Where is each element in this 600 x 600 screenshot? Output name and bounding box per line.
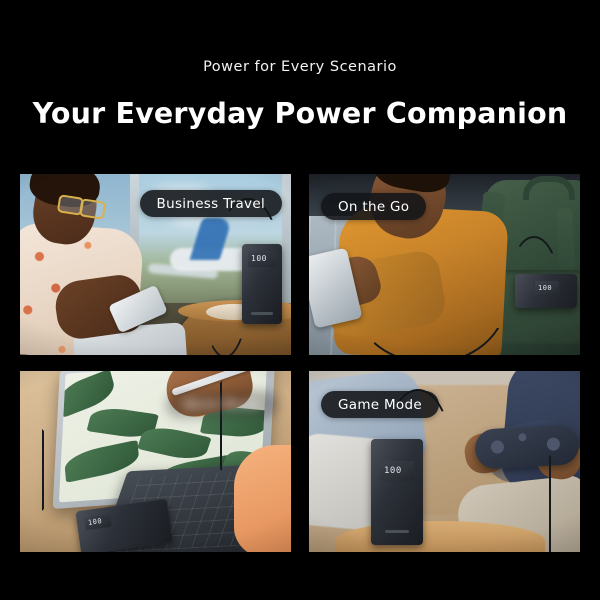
scenario-panel-business-travel[interactable]: 100 Business Travel <box>20 174 291 355</box>
product-lifestyle-poster: Power for Every Scenario Your Everyday P… <box>0 0 600 600</box>
eyebrow-text: Power for Every Scenario <box>0 59 600 75</box>
scenario-grid: 100 Business Travel <box>20 174 580 552</box>
power-bank-device: 100 <box>371 439 423 545</box>
scenario-panel-game-mode[interactable]: 100 Game Mode <box>309 371 580 552</box>
panel-badge-business-travel[interactable]: Business Travel <box>140 190 282 217</box>
power-bank-display: 100 <box>384 467 402 476</box>
poster-header: Power for Every Scenario Your Everyday P… <box>0 0 600 170</box>
scenario-panel-work-mode[interactable]: 100 Work Mode <box>20 371 291 552</box>
panel-badge-work-mode[interactable]: Work Mode <box>166 391 278 418</box>
page-title: Your Everyday Power Companion <box>0 97 600 130</box>
scenario-panel-on-the-go[interactable]: 100 On the Go <box>309 174 580 355</box>
panel-badge-on-the-go[interactable]: On the Go <box>321 193 426 220</box>
power-bank-device: 100 <box>242 244 282 324</box>
power-bank-device: 100 <box>515 274 577 308</box>
power-bank-display: 100 <box>251 255 267 263</box>
power-bank-display: 100 <box>538 285 552 292</box>
panel-badge-game-mode[interactable]: Game Mode <box>321 391 439 418</box>
